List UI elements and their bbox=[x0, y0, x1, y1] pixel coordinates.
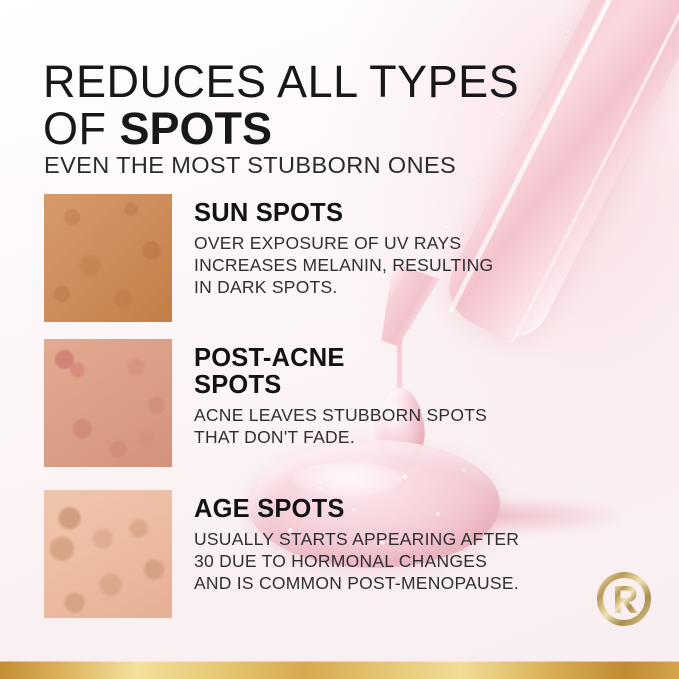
bubble-icon bbox=[566, 30, 570, 34]
headline-line-2-bold: SPOTS bbox=[120, 103, 273, 154]
bubble-icon bbox=[462, 468, 466, 472]
feature-row-age-spots: AGE SPOTS USUALLY STARTS APPEARING AFTER… bbox=[44, 490, 519, 618]
brand-logo-r-emblem-icon bbox=[596, 571, 652, 627]
ad-creative-page: REDUCES ALL TYPES OF SPOTS EVEN THE MOST… bbox=[0, 0, 679, 679]
skin-texture-overlay bbox=[44, 339, 172, 467]
bubble-icon bbox=[402, 474, 408, 480]
post-acne-spots-skin-swatch bbox=[44, 339, 172, 467]
feature-description: USUALLY STARTS APPEARING AFTER 30 DUE TO… bbox=[194, 528, 519, 594]
bubble-icon bbox=[470, 176, 474, 180]
skin-texture-overlay bbox=[44, 194, 172, 322]
feature-row-sun-spots: SUN SPOTS OVER EXPOSURE OF UV RAYS INCRE… bbox=[44, 194, 493, 322]
feature-title: POST-ACNE SPOTS bbox=[194, 345, 487, 399]
subheading: EVEN THE MOST STUBBORN ONES bbox=[44, 152, 456, 179]
feature-copy: SUN SPOTS OVER EXPOSURE OF UV RAYS INCRE… bbox=[194, 194, 493, 298]
feature-copy: POST-ACNE SPOTS ACNE LEAVES STUBBORN SPO… bbox=[194, 339, 487, 448]
feature-copy: AGE SPOTS USUALLY STARTS APPEARING AFTER… bbox=[194, 490, 519, 594]
feature-description: OVER EXPOSURE OF UV RAYS INCREASES MELAN… bbox=[194, 232, 493, 298]
headline-line-1: REDUCES ALL TYPES bbox=[43, 56, 519, 107]
feature-description: ACNE LEAVES STUBBORN SPOTS THAT DON'T FA… bbox=[194, 404, 487, 448]
bottom-gold-bar bbox=[0, 661, 679, 679]
sun-spots-skin-swatch bbox=[44, 194, 172, 322]
skin-texture-overlay bbox=[44, 490, 172, 618]
feature-title: SUN SPOTS bbox=[194, 200, 493, 227]
page-title: REDUCES ALL TYPES OF SPOTS bbox=[43, 59, 563, 153]
feature-title: AGE SPOTS bbox=[194, 496, 519, 523]
age-spots-skin-swatch bbox=[44, 490, 172, 618]
headline-line-2-light: OF bbox=[43, 103, 120, 154]
feature-row-post-acne-spots: POST-ACNE SPOTS ACNE LEAVES STUBBORN SPO… bbox=[44, 339, 487, 467]
